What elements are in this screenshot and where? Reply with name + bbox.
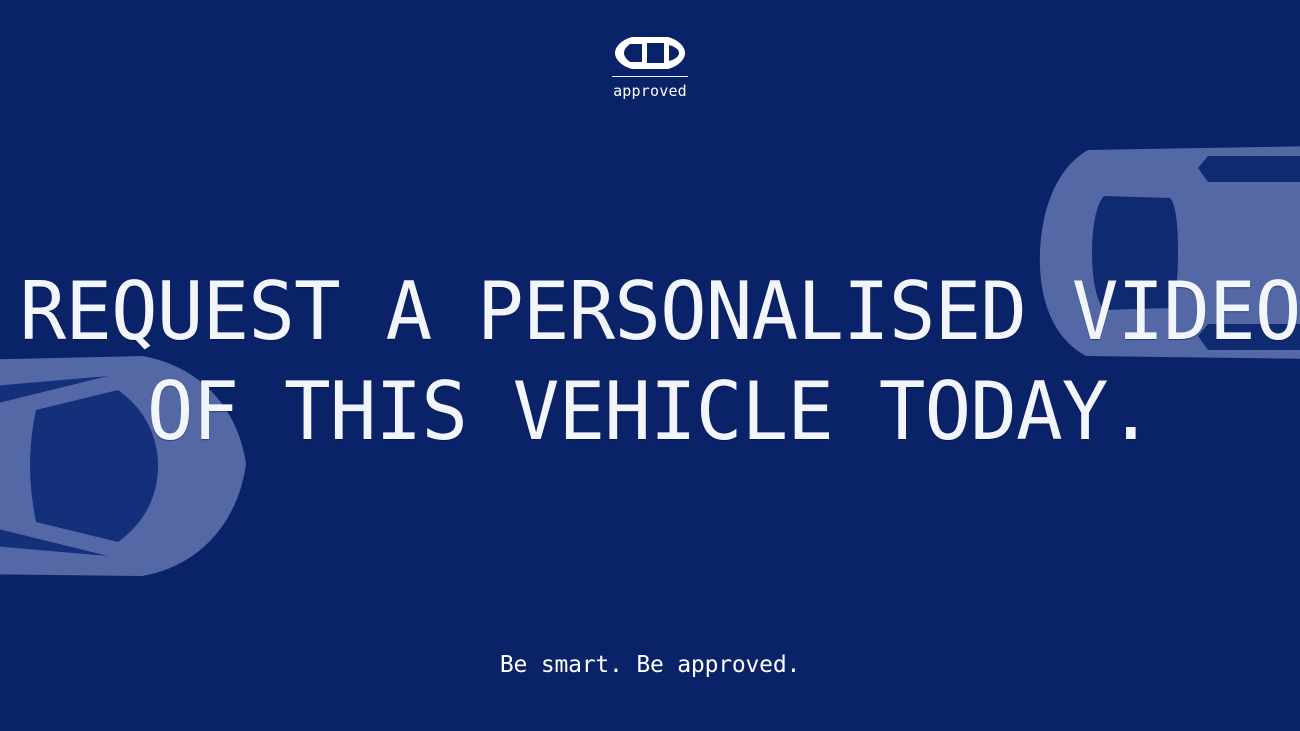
tagline: Be smart. Be approved. (0, 652, 1300, 678)
logo-wordmark: approved (613, 82, 687, 100)
page-title: REQUEST A PERSONALISED VIDEO OF THIS VEH… (0, 262, 1300, 462)
headline-line-2: OF THIS VEHICLE TODAY. (20, 362, 1281, 462)
brand-logo: approved (0, 36, 1300, 100)
headline-line-1: REQUEST A PERSONALISED VIDEO (20, 262, 1281, 362)
car-top-view-icon (614, 36, 686, 70)
logo-divider (612, 76, 688, 77)
promo-banner: approved REQUEST A PERSONALISED VIDEO OF… (0, 0, 1300, 731)
